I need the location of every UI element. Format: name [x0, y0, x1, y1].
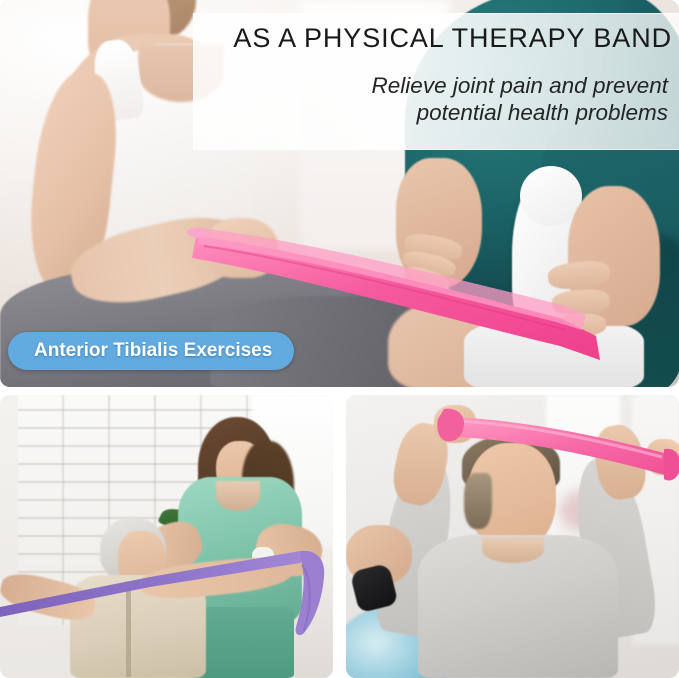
subtitle-line-1: Relieve joint pain and prevent — [372, 73, 668, 98]
relieve-joint-pain-panel: Relieve Joint Pain — [346, 395, 679, 678]
subtitle-line-2: potential health problems — [417, 100, 668, 125]
relieve-joint-pain-photo — [346, 395, 679, 678]
product-feature-image: AS A PHYSICAL THERAPY BAND Relieve joint… — [0, 0, 679, 678]
postoperative-rehab-panel: Postoperative Rehabilitation — [0, 395, 333, 678]
page-subtitle: Relieve joint pain and prevent potential… — [210, 72, 668, 126]
page-title: AS A PHYSICAL THERAPY BAND — [210, 22, 672, 54]
postoperative-rehab-photo — [0, 395, 333, 678]
pink-resistance-band — [346, 395, 679, 678]
hero-panel: AS A PHYSICAL THERAPY BAND Relieve joint… — [0, 0, 679, 387]
hero-photo — [0, 0, 679, 387]
badge-anterior-tibialis-exercises: Anterior Tibialis Exercises — [8, 332, 294, 370]
purple-resistance-band — [0, 395, 333, 678]
